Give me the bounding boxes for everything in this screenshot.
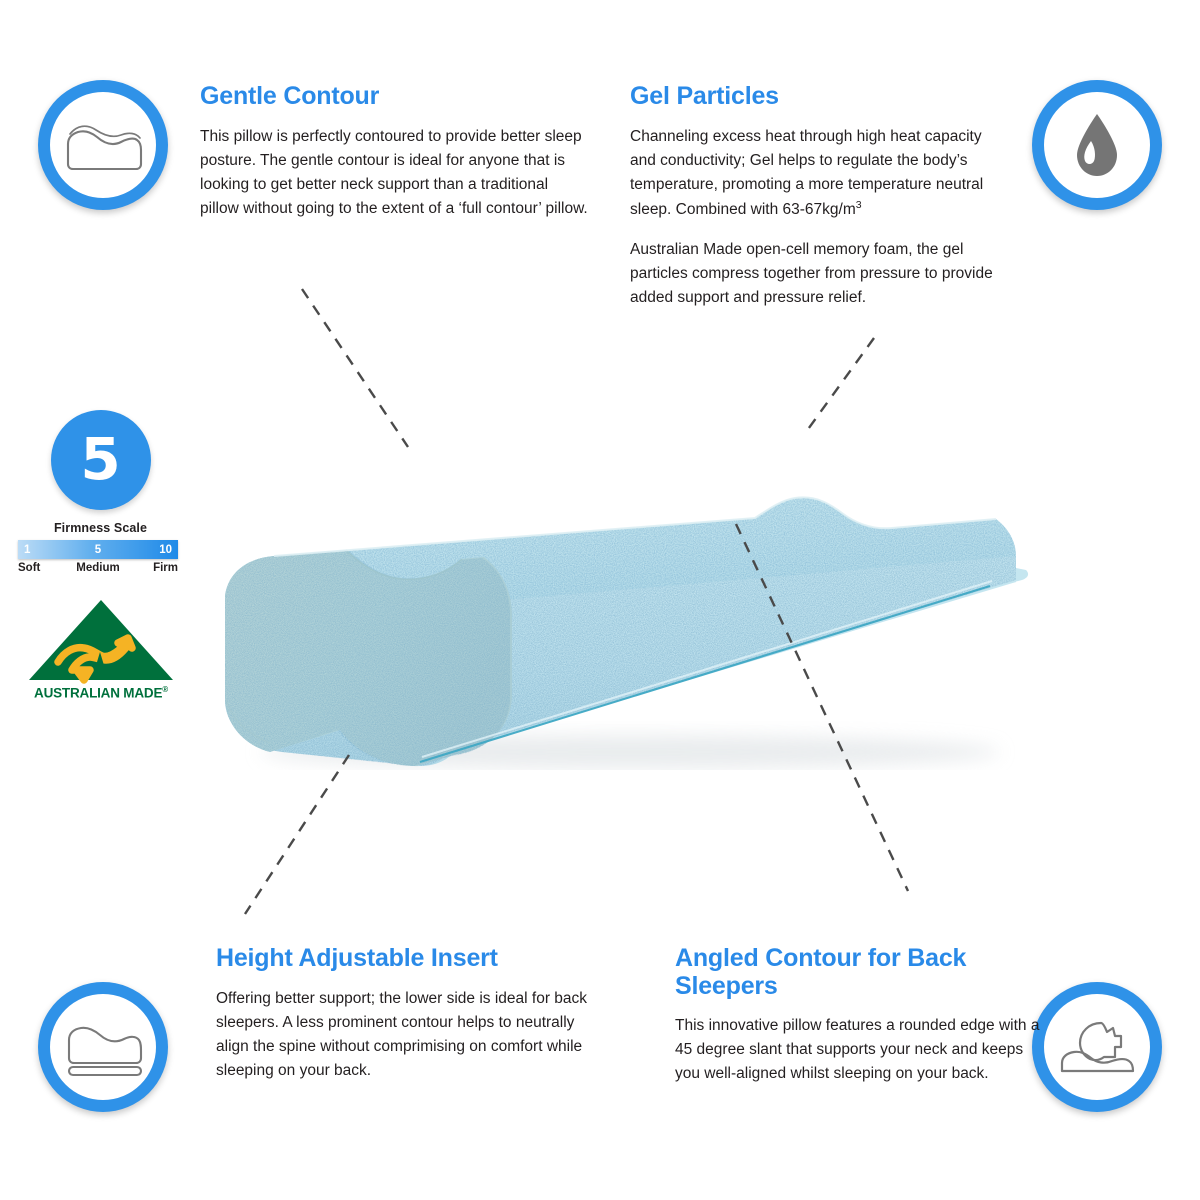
leader-line-height-insert [245,755,349,914]
feature-angled-contour: Angled Contour for Back Sleepers This in… [675,945,1047,1086]
australian-made-logo: AUSTRALIAN MADE® [22,596,180,701]
feature-title-gel-particles: Gel Particles [630,83,1002,111]
badge-inner [1044,994,1150,1100]
australian-made-triangle-icon [22,596,180,684]
australian-made-text: AUSTRALIAN MADE® [22,685,180,701]
infographic-page: 5 Firmness Scale 1 5 10 Soft Medium Firm… [0,0,1200,1200]
badge-inner [1044,92,1150,198]
badge-gel-particles [1032,80,1162,210]
firmness-label-soft: Soft [18,562,40,574]
product-pillow-image [170,400,1050,770]
pillow-illustration [170,400,1050,770]
firmness-label-firm: Firm [153,562,178,574]
firmness-value-circle: 5 [51,410,151,510]
feature-body-gel-particles-1: Channeling excess heat through high heat… [630,125,1002,222]
australian-made-label: AUSTRALIAN MADE [34,686,162,701]
feature-title-height-insert: Height Adjustable Insert [216,945,598,973]
badge-gentle-contour [38,80,168,210]
firmness-scale-widget: 5 Firmness Scale 1 5 10 Soft Medium Firm [18,410,183,578]
feature-height-adjustable-insert: Height Adjustable Insert Offering better… [216,945,598,1083]
badge-height-insert [38,982,168,1112]
registered-trademark-mark: ® [162,685,168,694]
firmness-scale-title: Firmness Scale [18,521,183,535]
feature-title-gentle-contour: Gentle Contour [200,83,588,111]
feature-body-gentle-contour: This pillow is perfectly contoured to pr… [200,125,588,221]
firmness-value: 5 [80,430,120,488]
feature-body-gel-particles-2: Australian Made open-cell memory foam, t… [630,238,1002,310]
firmness-scale-mid: 5 [95,544,101,556]
feature-gel-particles: Gel Particles Channeling excess heat thr… [630,83,1002,310]
feature-gentle-contour: Gentle Contour This pillow is perfectly … [200,83,588,221]
water-drop-icon [1072,111,1122,179]
badge-inner [50,92,156,198]
feature-body-height-insert: Offering better support; the lower side … [216,987,598,1083]
badge-angled-contour [1032,982,1162,1112]
cubic-metre-superscript: 3 [856,199,862,211]
badge-inner [50,994,156,1100]
pillow-with-insert-icon [61,1016,145,1078]
feature-body-angled-contour: This innovative pillow features a rounde… [675,1014,1047,1086]
head-on-pillow-icon [1055,1016,1139,1078]
firmness-scale-min: 1 [24,544,30,556]
feature-body-gel-particles-text: Channeling excess heat through high heat… [630,128,983,218]
firmness-scale-max: 10 [159,544,172,556]
contour-pillow-icon [61,116,145,174]
feature-title-angled-contour: Angled Contour for Back Sleepers [675,945,1047,1000]
firmness-labels: Soft Medium Firm [18,562,178,578]
firmness-gradient-bar: 1 5 10 [18,540,178,559]
firmness-label-medium: Medium [76,562,119,574]
